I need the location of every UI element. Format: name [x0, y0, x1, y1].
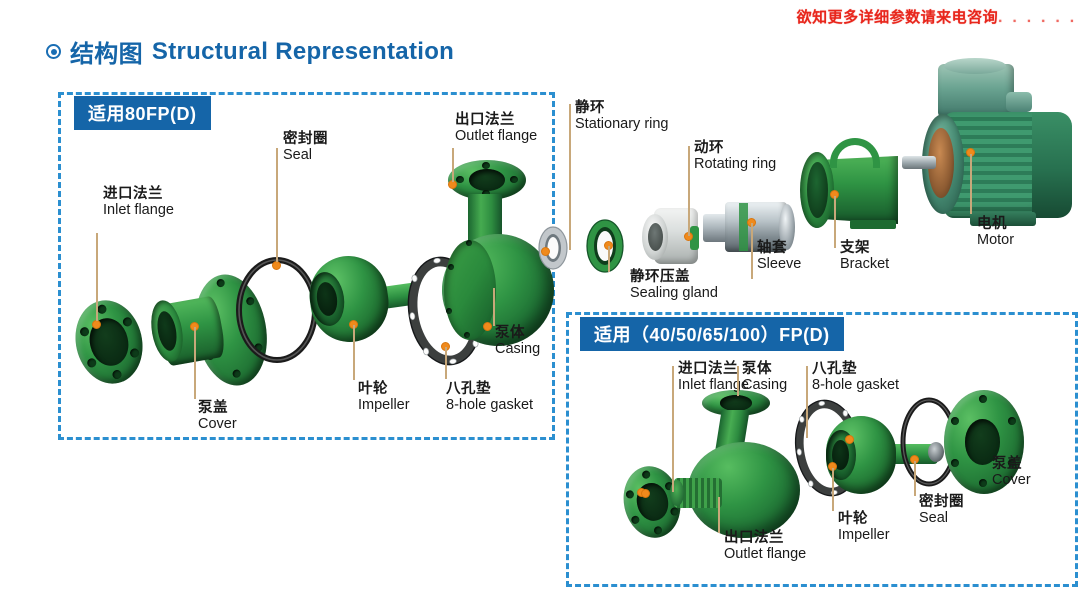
- label-cn: 八孔垫: [446, 381, 533, 397]
- label-en: Motor: [977, 232, 1014, 248]
- leader-outlet-flange-small: [718, 497, 720, 533]
- leader-inlet-flange-80: [96, 233, 98, 321]
- label-en: Impeller: [358, 397, 410, 413]
- leader-seal-small: [914, 461, 916, 496]
- part-casing-small: [674, 390, 804, 540]
- label-cn: 出口法兰: [724, 530, 806, 546]
- leader-motor: [970, 154, 972, 214]
- label-en: Outlet flange: [455, 128, 537, 144]
- leader-gasket-80: [445, 347, 447, 379]
- leader-rotating-ring: [688, 146, 690, 236]
- label-impeller-small: 叶轮 Impeller: [838, 511, 890, 543]
- label-cn: 进口法兰: [103, 186, 174, 202]
- marker-casing-80: [483, 322, 492, 331]
- label-cn: 支架: [840, 240, 889, 256]
- page-title-en: Structural Representation: [152, 38, 454, 66]
- page-title-cn: 结构图: [70, 34, 143, 69]
- label-gasket-80: 八孔垫 8-hole gasket: [446, 381, 533, 413]
- label-cn: 叶轮: [838, 511, 890, 527]
- promo-banner: 欲知更多详细参数请来电咨询. . . . . .: [797, 6, 1077, 27]
- leader-casing-small: [737, 366, 739, 396]
- label-sealing-gland: 静环压盖 Sealing gland: [630, 269, 718, 301]
- part-bracket: [800, 138, 904, 234]
- label-cn: 电机: [977, 216, 1014, 232]
- promo-dots: . . . . . .: [998, 9, 1077, 26]
- label-cover-80: 泵盖 Cover: [198, 400, 237, 432]
- label-cn: 泵盖: [198, 400, 237, 416]
- label-en: Cover: [198, 416, 237, 432]
- label-cn: 叶轮: [358, 381, 410, 397]
- label-en: Casing: [742, 377, 787, 393]
- leader-impeller-80: [353, 325, 355, 380]
- label-cn: 静环: [575, 100, 669, 116]
- label-seal-small: 密封圈 Seal: [919, 494, 964, 526]
- label-sleeve: 轴套 Sleeve: [757, 240, 801, 272]
- leader-casing-80-up: [493, 288, 495, 326]
- label-cn: 八孔垫: [812, 361, 899, 377]
- panel-80fpd-badge: 适用80FP(D): [74, 96, 211, 130]
- label-rotating-ring: 动环 Rotating ring: [694, 140, 776, 172]
- leader-impeller-small: [832, 468, 834, 511]
- label-stationary-ring: 静环 Stationary ring: [575, 100, 669, 132]
- leader-sleeve: [751, 223, 753, 279]
- label-en: Seal: [919, 510, 964, 526]
- structural-representation-page: { "header": { "promo_text": "欲知更多详细参数请来电…: [0, 0, 1087, 604]
- leader-gasket-small: [806, 366, 808, 438]
- label-en: Seal: [283, 147, 328, 163]
- leader-sealing-gland: [608, 246, 610, 272]
- label-cn: 静环压盖: [630, 269, 718, 285]
- part-motor: [914, 64, 1078, 236]
- label-en: Impeller: [838, 527, 890, 543]
- label-en: Casing: [495, 341, 540, 357]
- marker-stationary-ring: [541, 247, 550, 256]
- label-impeller-80: 叶轮 Impeller: [358, 381, 410, 413]
- marker-gasket-small: [845, 435, 854, 444]
- label-en: Sealing gland: [630, 285, 718, 301]
- label-cn: 密封圈: [283, 131, 328, 147]
- circle-dot-icon: [46, 44, 61, 59]
- label-gasket-small: 八孔垫 8-hole gasket: [812, 361, 899, 393]
- leader-stationary-ring: [569, 104, 571, 250]
- leader-inlet-flange-small: [672, 366, 674, 492]
- label-cn: 轴套: [757, 240, 801, 256]
- leader-bracket: [834, 196, 836, 248]
- label-cn: 密封圈: [919, 494, 964, 510]
- label-en: Stationary ring: [575, 116, 669, 132]
- marker-outlet-flange-small: [641, 489, 650, 498]
- label-outlet-flange-small: 出口法兰 Outlet flange: [724, 530, 806, 562]
- marker-seal-80: [272, 261, 281, 270]
- label-en: Bracket: [840, 256, 889, 272]
- label-en: 8-hole gasket: [812, 377, 899, 393]
- leader-outlet-flange-80: [452, 148, 454, 182]
- label-seal-80: 密封圈 Seal: [283, 131, 328, 163]
- label-cn: 泵体: [495, 325, 540, 341]
- label-bracket: 支架 Bracket: [840, 240, 889, 272]
- label-outlet-flange-80: 出口法兰 Outlet flange: [455, 112, 537, 144]
- label-casing-80: 泵体 Casing: [495, 325, 540, 357]
- label-motor: 电机 Motor: [977, 216, 1014, 248]
- label-en: Outlet flange: [724, 546, 806, 562]
- label-en: Sleeve: [757, 256, 801, 272]
- leader-seal-80: [276, 148, 278, 262]
- panel-40-50-65-100-fpd-badge: 适用（40/50/65/100）FP(D): [580, 317, 844, 351]
- label-cn: 泵盖: [992, 456, 1031, 472]
- label-cn: 出口法兰: [455, 112, 537, 128]
- label-en: Cover: [992, 472, 1031, 488]
- label-en: Inlet flange: [103, 202, 174, 218]
- label-inlet-flange-80: 进口法兰 Inlet flange: [103, 186, 174, 218]
- leader-cover-80: [194, 327, 196, 399]
- page-title: 结构图 Structural Representation: [46, 34, 454, 69]
- label-cover-small: 泵盖 Cover: [992, 456, 1031, 488]
- label-cn: 泵体: [742, 361, 787, 377]
- label-en: 8-hole gasket: [446, 397, 533, 413]
- promo-text: 欲知更多详细参数请来电咨询: [797, 9, 999, 26]
- marker-inlet-flange-80: [92, 320, 101, 329]
- label-cn: 动环: [694, 140, 776, 156]
- label-casing-small: 泵体 Casing: [742, 361, 787, 393]
- label-en: Rotating ring: [694, 156, 776, 172]
